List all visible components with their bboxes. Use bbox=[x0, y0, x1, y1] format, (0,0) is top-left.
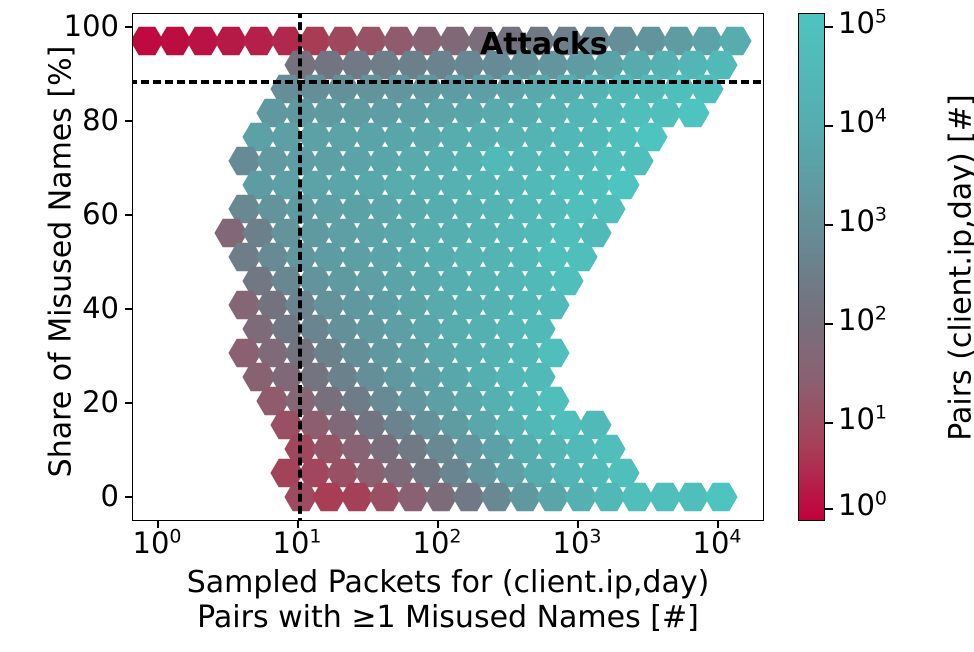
cbar-exponent-1: 4 bbox=[875, 104, 887, 126]
y-tick-80 bbox=[125, 120, 132, 122]
cbar-exponent-5: 0 bbox=[875, 487, 887, 509]
cbar-tick-label-1e3: 103 bbox=[838, 207, 887, 236]
x-tick-mantissa-4: 10 bbox=[693, 526, 730, 560]
cbar-tick-1e4 bbox=[825, 125, 833, 127]
cbar-exponent-4: 1 bbox=[875, 401, 887, 423]
cbar-tick-label-1e1: 101 bbox=[838, 405, 887, 434]
x-tick-label-1e3: 103 bbox=[553, 528, 602, 558]
y-axis-title: Share of Misused Names [%] bbox=[44, 7, 79, 517]
x-tick-label-1e1: 101 bbox=[273, 528, 322, 558]
x-tick-label-1e2: 102 bbox=[413, 528, 462, 558]
x-tick-mantissa-3: 10 bbox=[553, 526, 590, 560]
x-tick-label-1e0: 100 bbox=[133, 528, 182, 558]
y-tick-0 bbox=[125, 496, 132, 498]
colorbar bbox=[798, 13, 825, 521]
cbar-mantissa-1: 10 bbox=[838, 105, 875, 139]
hexbin-figure: Attacks 100 80 60 40 20 0 100 101 102 10… bbox=[0, 0, 974, 652]
cbar-tick-1e1 bbox=[825, 422, 833, 424]
x-tick-mantissa-0: 10 bbox=[133, 526, 170, 560]
cbar-tick-label-1e5: 105 bbox=[838, 9, 887, 38]
cbar-exponent-0: 5 bbox=[875, 5, 887, 27]
colorbar-title: Pairs (client.ip,day) [#] bbox=[944, 0, 974, 548]
reference-line-horizontal-90 bbox=[132, 80, 764, 84]
x-axis-title-line-1: Sampled Packets for (client.ip,day) bbox=[132, 565, 764, 600]
cbar-mantissa-0: 10 bbox=[838, 6, 875, 40]
attacks-annotation: Attacks bbox=[480, 27, 608, 62]
cbar-exponent-3: 2 bbox=[875, 302, 887, 324]
x-tick-exponent-3: 3 bbox=[589, 525, 601, 547]
plot-area: Attacks bbox=[132, 13, 764, 521]
reference-line-vertical-10 bbox=[298, 13, 302, 521]
y-tick-label-0: 0 bbox=[101, 482, 119, 511]
cbar-mantissa-3: 10 bbox=[838, 303, 875, 337]
x-tick-exponent-1: 1 bbox=[309, 525, 321, 547]
cbar-mantissa-2: 10 bbox=[838, 204, 875, 238]
cbar-tick-1e5 bbox=[825, 26, 833, 28]
x-tick-exponent-0: 0 bbox=[169, 525, 181, 547]
cbar-exponent-2: 3 bbox=[875, 203, 887, 225]
y-tick-60 bbox=[125, 214, 132, 216]
hexbin-layer bbox=[133, 14, 764, 521]
y-tick-label-60: 60 bbox=[82, 200, 119, 229]
y-tick-40 bbox=[125, 308, 132, 310]
y-tick-label-80: 80 bbox=[82, 106, 119, 135]
cbar-tick-1e3 bbox=[825, 224, 833, 226]
hexbin-cell bbox=[704, 483, 737, 512]
cbar-mantissa-4: 10 bbox=[838, 402, 875, 436]
cbar-tick-1e0 bbox=[825, 508, 833, 510]
x-tick-mantissa-2: 10 bbox=[413, 526, 450, 560]
cbar-mantissa-5: 10 bbox=[838, 488, 875, 522]
y-tick-100 bbox=[125, 26, 132, 28]
y-tick-20 bbox=[125, 402, 132, 404]
cbar-tick-1e2 bbox=[825, 323, 833, 325]
x-tick-exponent-2: 2 bbox=[449, 525, 461, 547]
x-axis-title-line-2: Pairs with ≥1 Misused Names [#] bbox=[132, 600, 764, 635]
x-tick-label-1e4: 104 bbox=[693, 528, 742, 558]
cbar-tick-label-1e2: 102 bbox=[838, 306, 887, 335]
y-tick-label-40: 40 bbox=[82, 294, 119, 323]
x-tick-mantissa-1: 10 bbox=[273, 526, 310, 560]
y-tick-label-20: 20 bbox=[82, 388, 119, 417]
x-tick-exponent-4: 4 bbox=[729, 525, 741, 547]
x-axis-title: Sampled Packets for (client.ip,day) Pair… bbox=[132, 565, 764, 635]
cbar-tick-label-1e0: 100 bbox=[838, 491, 887, 520]
cbar-tick-label-1e4: 104 bbox=[838, 108, 887, 137]
